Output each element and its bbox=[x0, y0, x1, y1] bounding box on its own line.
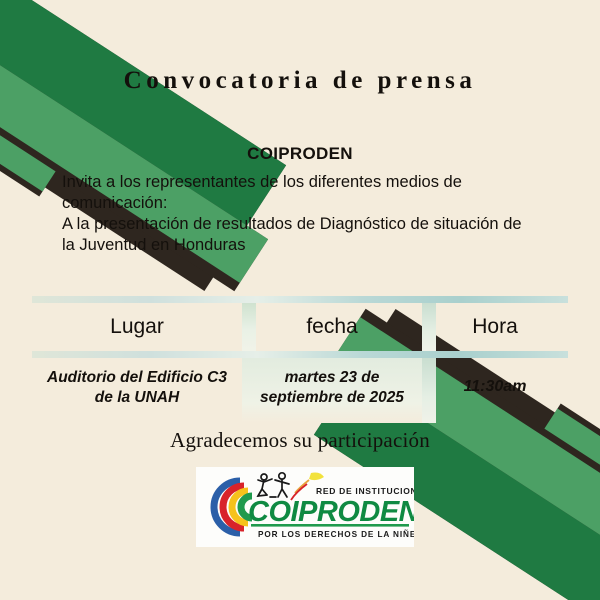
table-rule-bottom bbox=[32, 351, 568, 358]
logo-tagline-bottom: POR LOS DERECHOS DE LA NIÑEZ bbox=[258, 529, 414, 539]
table-header-label: fecha bbox=[242, 303, 422, 351]
logo-underline bbox=[251, 524, 409, 527]
event-details-table: Lugar fecha Hora Auditorio del Edificio … bbox=[32, 296, 568, 423]
logo-tagline-top: RED DE INSTITUCIONES bbox=[316, 486, 414, 496]
table-header-label: Lugar bbox=[32, 303, 242, 351]
table-cell-value: 11:30am bbox=[422, 358, 568, 411]
table-cell-lugar: Auditorio del Edificio C3 de la UNAH bbox=[32, 358, 242, 423]
invitation-text: Invita a los representantes de los difer… bbox=[62, 172, 538, 214]
table-header-row: Lugar fecha Hora bbox=[32, 303, 568, 351]
coiproden-logo-svg: RED DE INSTITUCIONES COIPRODEN POR LOS D… bbox=[196, 467, 414, 547]
table-header-label: Hora bbox=[422, 303, 568, 351]
ribbon-dark-lower bbox=[0, 8, 56, 197]
table-row: Auditorio del Edificio C3 de la UNAH mar… bbox=[32, 358, 568, 423]
table-header-cell-hora: Hora bbox=[422, 303, 568, 351]
table-header-cell-lugar: Lugar bbox=[32, 303, 242, 351]
table-cell-value: Auditorio del Edificio C3 de la UNAH bbox=[32, 358, 242, 423]
table-cell-value: martes 23 de septiembre de 2025 bbox=[242, 358, 422, 423]
table-header-cell-fecha: fecha bbox=[242, 303, 422, 351]
coiproden-logo: RED DE INSTITUCIONES COIPRODEN POR LOS D… bbox=[196, 467, 414, 547]
thanks-text: Agradecemos su participación bbox=[0, 428, 600, 453]
page-title: Convocatoria de prensa bbox=[0, 64, 600, 99]
logo-wordmark: COIPRODEN bbox=[248, 496, 414, 528]
table-cell-hora: 11:30am bbox=[422, 358, 568, 423]
poster-canvas: Convocatoria de prensa COIPRODEN Invita … bbox=[0, 0, 600, 600]
organization-name: COIPRODEN bbox=[0, 144, 600, 164]
presentation-text: A la presentación de resultados de Diagn… bbox=[62, 214, 538, 257]
table-rule-top bbox=[32, 296, 568, 303]
table-cell-fecha: martes 23 de septiembre de 2025 bbox=[242, 358, 422, 423]
